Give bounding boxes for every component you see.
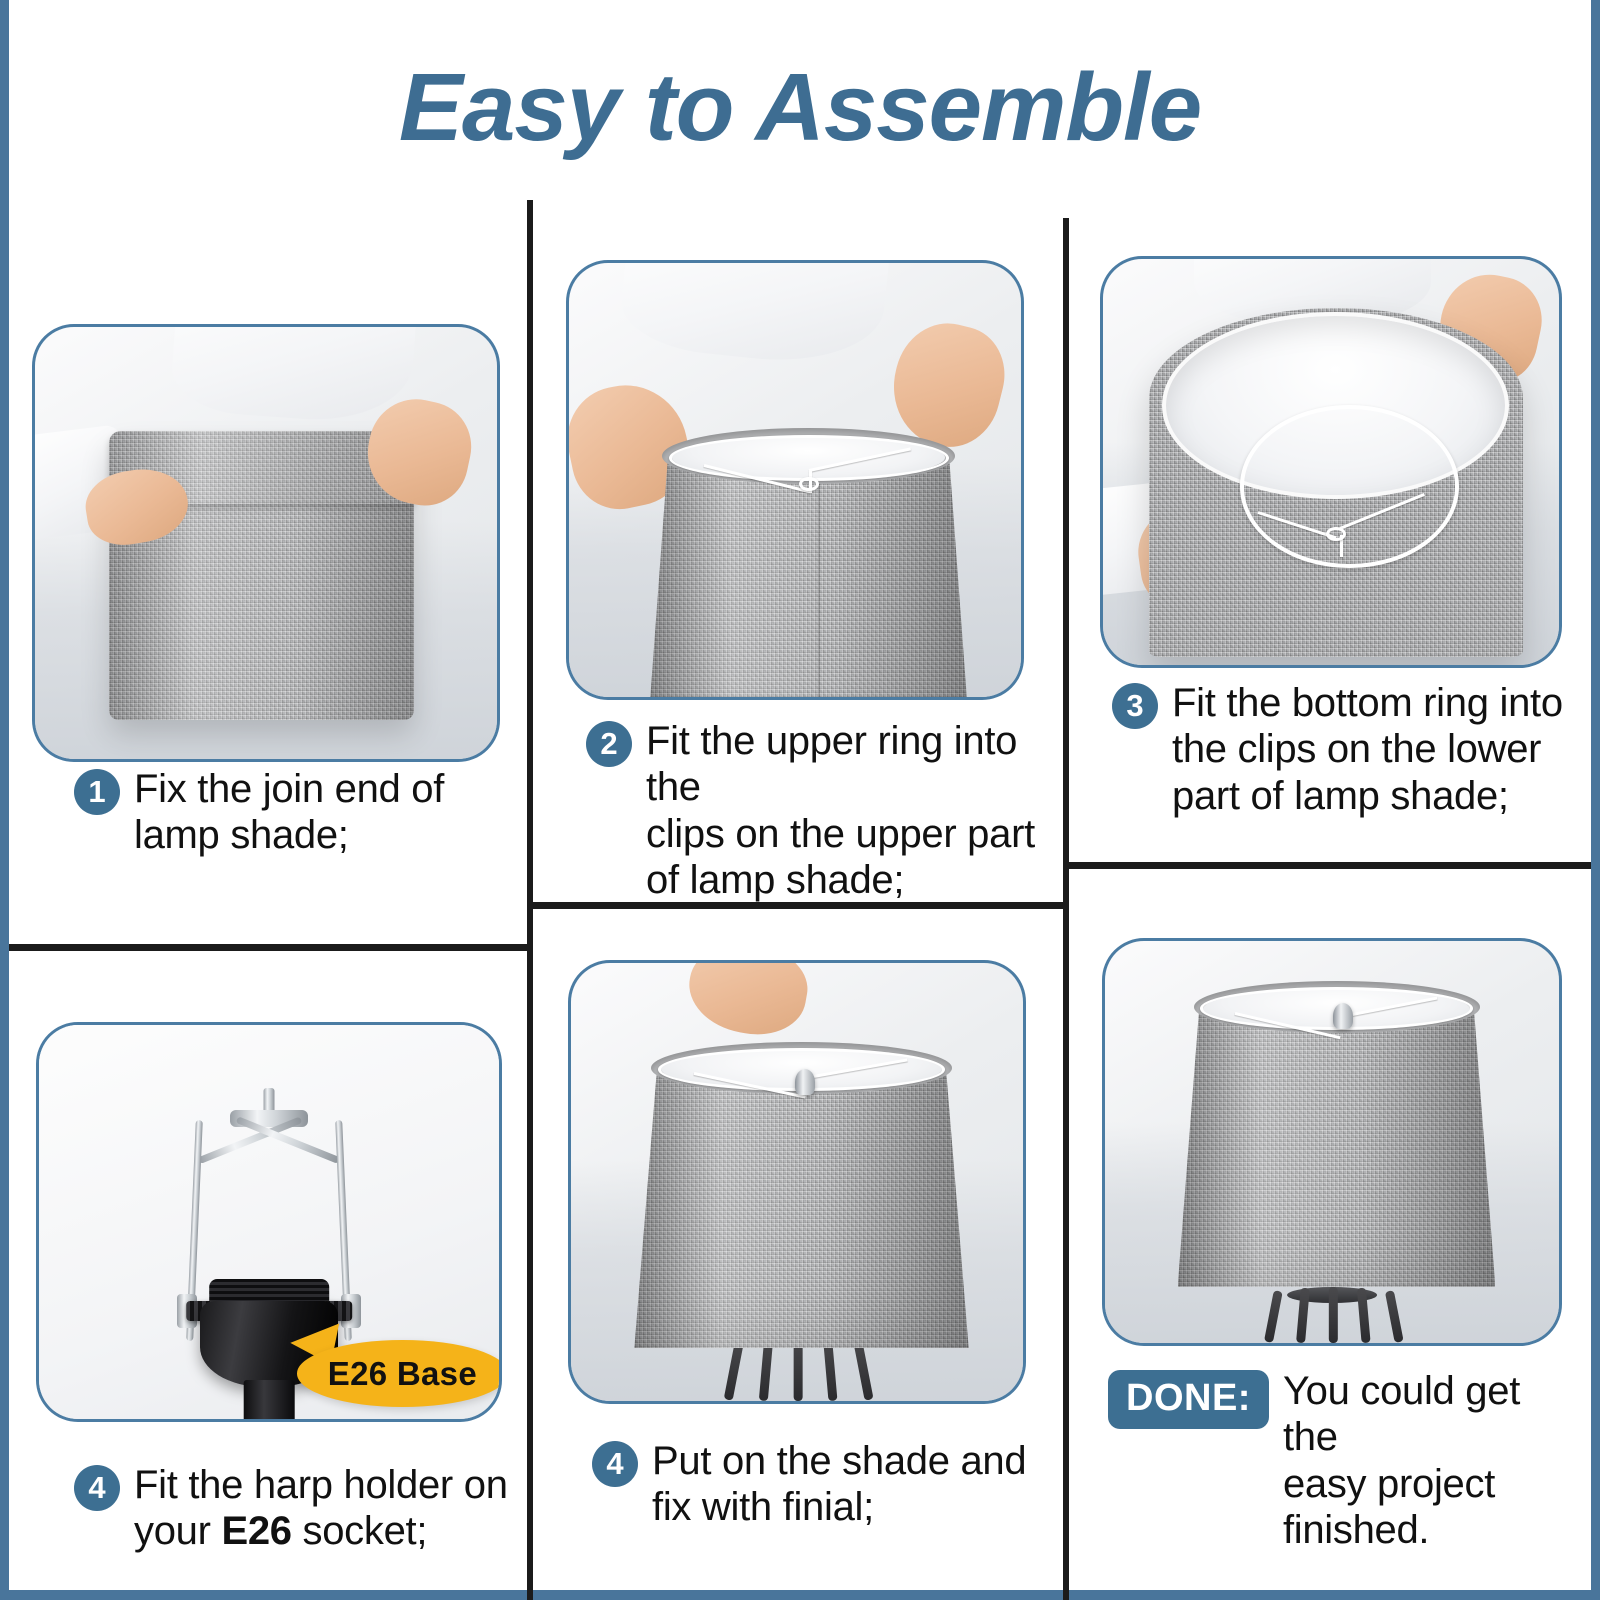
done-photo — [1102, 938, 1562, 1346]
step-1-caption: 1 Fix the join end of lamp shade; — [74, 766, 514, 859]
lamp-shade-drum — [634, 1042, 968, 1349]
lamp-shade-drum — [646, 428, 971, 700]
divider-horizontal-col3 — [1063, 862, 1591, 869]
step-3-caption: 3 Fit the bottom ring into the clips on … — [1112, 680, 1564, 819]
step-3-photo — [1100, 256, 1562, 668]
done-badge: DONE: — [1108, 1370, 1269, 1429]
page-title: Easy to Assemble — [0, 58, 1600, 159]
step-5-caption: 4 Put on the shade and fix with finial; — [592, 1438, 1042, 1531]
lamp-shade-drum — [1178, 981, 1496, 1287]
step-1-photo — [32, 324, 500, 762]
sleeve-top — [617, 260, 891, 372]
step-2-text: Fit the upper ring into the clips on the… — [646, 718, 1036, 904]
lamp-stem — [244, 1380, 295, 1422]
step-5-text: Put on the shade and fix with finial; — [652, 1438, 1026, 1531]
step-5-photo — [568, 960, 1026, 1404]
step-2-photo — [566, 260, 1024, 700]
step-4-text: Fit the harp holder on your E26 socket; — [134, 1462, 508, 1555]
step-2-caption: 2 Fit the upper ring into the clips on t… — [586, 718, 1036, 904]
step-3-text: Fit the bottom ring into the clips on th… — [1172, 680, 1563, 819]
lamp-base — [1255, 1287, 1409, 1343]
left-edge-band — [0, 0, 9, 1600]
done-caption: DONE: You could get the easy project fin… — [1108, 1368, 1578, 1554]
base-rib — [1264, 1290, 1283, 1343]
step-5-badge: 4 — [592, 1441, 638, 1487]
socket-cap — [209, 1279, 329, 1303]
step-3-badge: 3 — [1112, 683, 1158, 729]
divider-horizontal-col1 — [9, 944, 533, 951]
sleeve-top — [169, 324, 419, 426]
finial — [1333, 1003, 1353, 1029]
finial — [795, 1069, 815, 1095]
right-edge-band — [1591, 0, 1600, 1600]
base-rib — [1385, 1290, 1404, 1343]
step-4-photo: E26 Base — [36, 1022, 502, 1422]
step-1-badge: 1 — [74, 769, 120, 815]
base-rib — [1329, 1287, 1338, 1343]
e26-base-callout: E26 Base — [297, 1340, 502, 1407]
hand-placing-finial — [682, 960, 813, 1043]
done-text: You could get the easy project finished. — [1283, 1368, 1578, 1554]
bottom-edge-band — [0, 1590, 1600, 1600]
divider-vertical-1 — [527, 200, 533, 1600]
step-4-caption: 4 Fit the harp holder on your E26 socket… — [74, 1462, 524, 1555]
step-1-text: Fix the join end of lamp shade; — [134, 766, 444, 859]
step-4-badge: 4 — [74, 1465, 120, 1511]
step-2-badge: 2 — [586, 721, 632, 767]
bottom-ring — [1240, 405, 1459, 567]
divider-vertical-2 — [1063, 218, 1069, 1600]
